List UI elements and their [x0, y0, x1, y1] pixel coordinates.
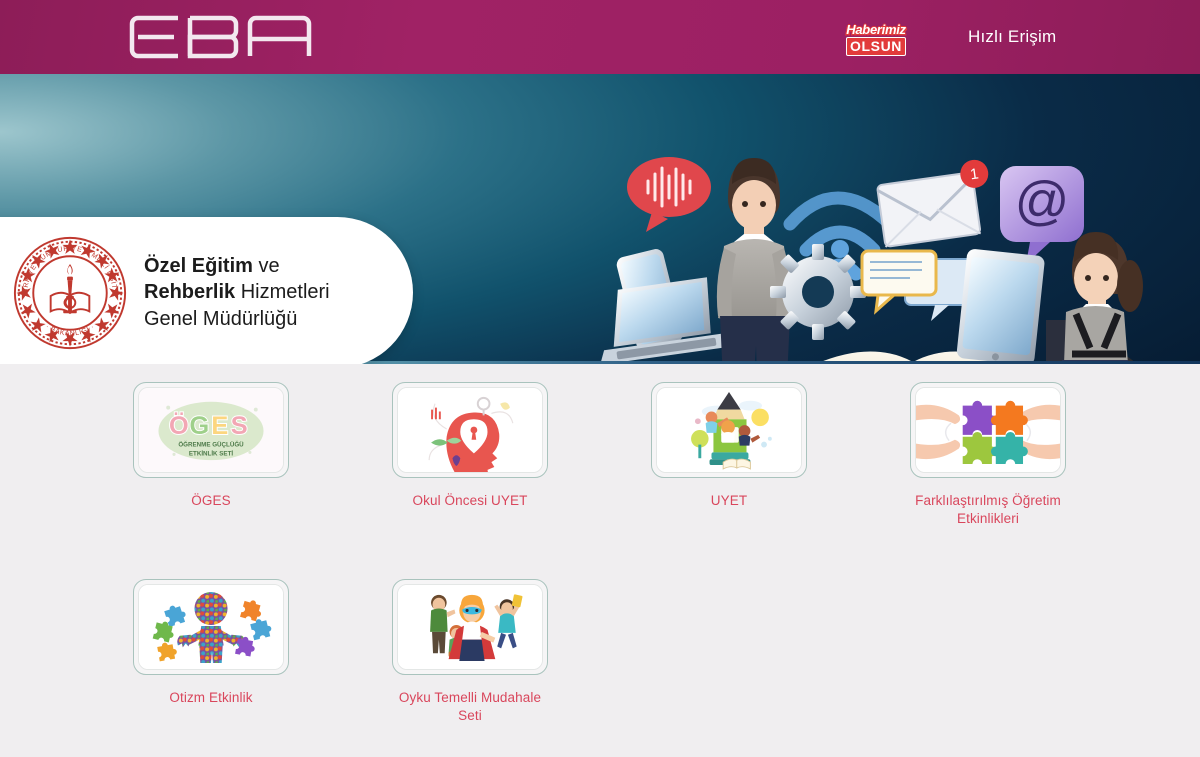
tile-label: ÖGES [191, 492, 230, 510]
oyku-temelli-mudahale-thumbnail-icon [398, 584, 542, 670]
tile-row-1: Ö G E S ÖĞRENME GÜÇLÜĞÜ ETKİNLİK SETİ [0, 364, 1200, 562]
farklilastirilmis-ogretim-thumbnail-icon [916, 387, 1060, 473]
laptop-icon [590, 274, 739, 364]
meb-title-line1-bold: Özel Eğitim [144, 255, 253, 277]
tile-label: Okul Öncesi UYET [413, 492, 528, 510]
tile-okul-oncesi-uyet[interactable]: Okul Öncesi UYET [386, 382, 554, 510]
svg-text:@: @ [1015, 171, 1070, 231]
tablet-icon [956, 248, 1045, 364]
otizm-etkinlik-thumbnail-icon [139, 584, 283, 670]
meb-title-line2-bold: Rehberlik [144, 281, 235, 303]
svg-text:E: E [211, 412, 228, 440]
oges-sub2: ETKİNLİK SETİ [189, 450, 233, 457]
envelope-notification-icon: 1 [875, 158, 996, 247]
tile-frame [651, 382, 807, 478]
tile-row-2: Otizm Etkinlik [0, 562, 1200, 757]
tile-farklilastirilmis-ogretim[interactable]: Farklılaştırılmış Öğretim Etkinlikleri [904, 382, 1072, 528]
gear-icon [770, 244, 866, 340]
tile-frame [392, 382, 548, 478]
tile-otizm-etkinlik[interactable]: Otizm Etkinlik [127, 579, 295, 707]
tile-oges[interactable]: Ö G E S ÖĞRENME GÜÇLÜĞÜ ETKİNLİK SETİ [127, 382, 295, 510]
tile-thumbnail: Ö G E S ÖĞRENME GÜÇLÜĞÜ ETKİNLİK SETİ [138, 387, 284, 473]
tile-oyku-temelli-mudahale[interactable]: Oyku Temelli Mudahale Seti [386, 579, 554, 725]
svg-text:S: S [231, 412, 248, 440]
tile-thumbnail [656, 387, 802, 473]
meb-title-text: Özel Eğitim ve Rehberlik Hizmetleri Gene… [144, 253, 330, 332]
at-sign-bubble-icon: @ [1000, 166, 1084, 264]
quick-access-link[interactable]: Hızlı Erişim [968, 27, 1056, 47]
oges-sub1: ÖĞRENME GÜÇLÜĞÜ [178, 441, 244, 449]
olsun-text: OLSUN [846, 37, 906, 56]
eba-ozel-egitim-page: Haberimiz OLSUN Hızlı Erişim [0, 0, 1200, 757]
hero-banner: 1 @ [0, 74, 1200, 364]
app-tile-grid: Ö G E S ÖĞRENME GÜÇLÜĞÜ ETKİNLİK SETİ [0, 364, 1200, 757]
uyet-thumbnail-icon [657, 387, 801, 473]
tile-frame [910, 382, 1066, 478]
tile-frame [133, 579, 289, 675]
eba-logo[interactable] [128, 14, 313, 60]
okul-oncesi-uyet-thumbnail-icon [398, 387, 542, 473]
meb-title-card: TÜRKİYE CUMHURİYETİ MİLLİ EĞİTİM · BAKAN… [0, 217, 413, 364]
meb-title-line1-rest: ve [253, 255, 280, 277]
oges-thumbnail-icon: Ö G E S ÖĞRENME GÜÇLÜĞÜ ETKİNLİK SETİ [139, 387, 283, 473]
boy-student-figure [716, 158, 792, 364]
tile-label: Farklılaştırılmış Öğretim Etkinlikleri [915, 492, 1061, 528]
tile-thumbnail [915, 387, 1061, 473]
top-header-bar: Haberimiz OLSUN Hızlı Erişim [0, 0, 1200, 75]
meb-title-line3: Genel Müdürlüğü [144, 306, 330, 332]
tile-frame: Ö G E S ÖĞRENME GÜÇLÜĞÜ ETKİNLİK SETİ [133, 382, 289, 478]
tile-thumbnail [138, 584, 284, 670]
meb-title-line2-rest: Hizmetleri [235, 281, 329, 303]
speech-bubble-audio-icon [627, 157, 711, 232]
tile-label: UYET [711, 492, 747, 510]
haberimiz-text: Haberimiz [846, 23, 905, 36]
tile-label: Otizm Etkinlik [169, 689, 252, 707]
meb-emblem-icon: TÜRKİYE CUMHURİYETİ MİLLİ EĞİTİM · BAKAN… [12, 235, 128, 351]
svg-text:G: G [189, 412, 209, 440]
tile-frame [392, 579, 548, 675]
tile-thumbnail [397, 584, 543, 670]
tile-thumbnail [397, 387, 543, 473]
tile-uyet[interactable]: UYET [645, 382, 813, 510]
svg-text:Ö: Ö [169, 411, 189, 440]
haberimiz-olsun-logo[interactable]: Haberimiz OLSUN [836, 22, 916, 56]
tile-label: Oyku Temelli Mudahale Seti [386, 689, 554, 725]
